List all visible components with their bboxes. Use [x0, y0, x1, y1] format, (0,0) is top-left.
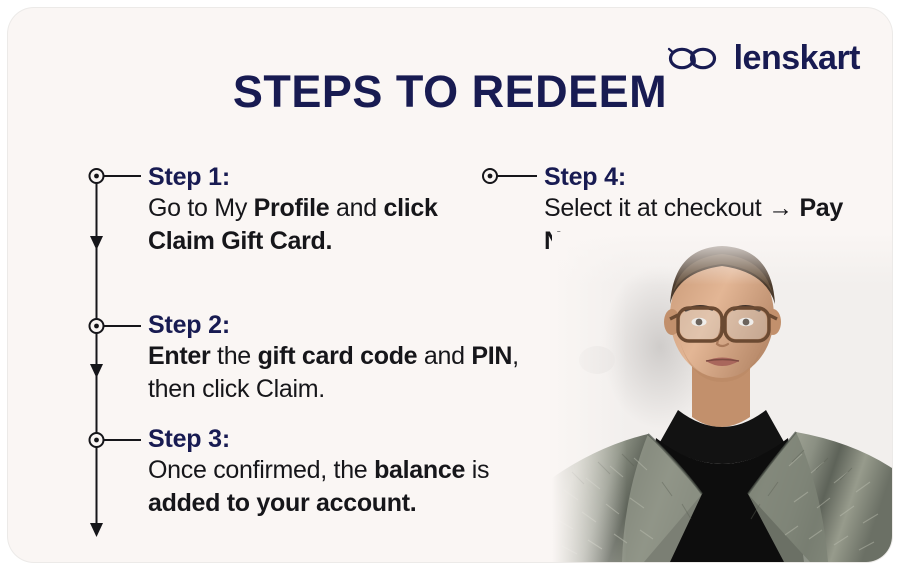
- model-wearing-eyeglasses-photo: [552, 232, 892, 562]
- step-2-body: Enter the gift card code and PIN, then c…: [148, 340, 528, 405]
- step-4-label: Step 4:: [544, 163, 874, 191]
- step-1: Step 1: Go to My Profile and click Claim…: [148, 163, 468, 257]
- step-3-label: Step 3:: [148, 425, 508, 453]
- step-3-body: Once confirmed, the balance is added to …: [148, 454, 508, 519]
- step-1-label: Step 1:: [148, 163, 468, 191]
- step-2: Step 2: Enter the gift card code and PIN…: [148, 311, 528, 405]
- gift-card-redeem-card: lenskart STEPS TO REDEEM Step 1: Go to M…: [8, 8, 892, 562]
- step-2-label: Step 2:: [148, 311, 528, 339]
- step-3: Step 3: Once confirmed, the balance is a…: [148, 425, 508, 519]
- step-1-body: Go to My Profile and click Claim Gift Ca…: [148, 192, 468, 257]
